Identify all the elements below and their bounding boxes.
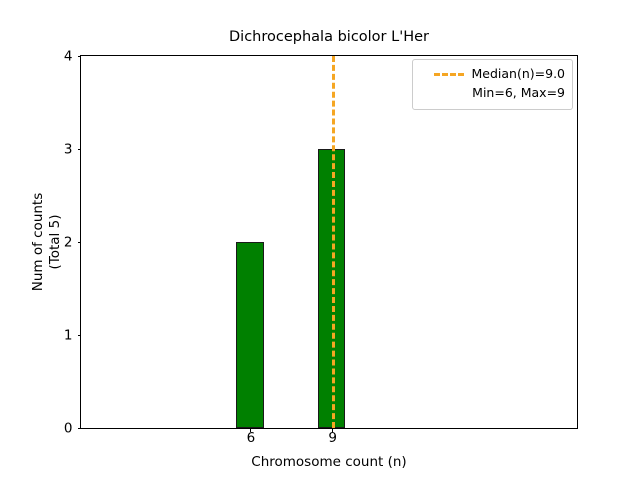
figure: Dichrocephala bicolor L'Her 0 1 2 3 4 6 … xyxy=(0,0,640,480)
bar-6 xyxy=(236,242,263,428)
xtick-label-9: 9 xyxy=(328,432,337,446)
legend-label-median: Median(n)=9.0 xyxy=(472,65,566,83)
legend-entry-median: Median(n)=9.0 xyxy=(420,65,565,84)
ytick-2: 2 xyxy=(78,242,82,243)
ytick-3: 3 xyxy=(78,149,82,150)
ytick-1: 1 xyxy=(78,335,82,336)
plot-area: 0 1 2 3 4 6 9 Median(n)=9.0 Min=6, M xyxy=(80,55,578,429)
chart-title: Dichrocephala bicolor L'Her xyxy=(80,29,578,45)
dashed-line-icon xyxy=(434,73,464,76)
legend: Median(n)=9.0 Min=6, Max=9 xyxy=(412,59,573,110)
y-axis-label-text: Num of counts (Total 5) xyxy=(30,193,64,292)
median-line xyxy=(332,56,335,428)
ytick-0: 0 xyxy=(78,428,82,429)
y-axis-label: Num of counts (Total 5) xyxy=(30,55,70,429)
x-axis-label: Chromosome count (n) xyxy=(80,454,578,470)
legend-entry-minmax: Min=6, Max=9 xyxy=(420,84,565,103)
xtick-label-6: 6 xyxy=(247,432,256,446)
legend-label-minmax: Min=6, Max=9 xyxy=(472,84,565,102)
plot-inner xyxy=(81,56,577,428)
xtick-9: 9 xyxy=(332,428,333,432)
xtick-6: 6 xyxy=(250,428,251,432)
ytick-4: 4 xyxy=(78,56,82,57)
